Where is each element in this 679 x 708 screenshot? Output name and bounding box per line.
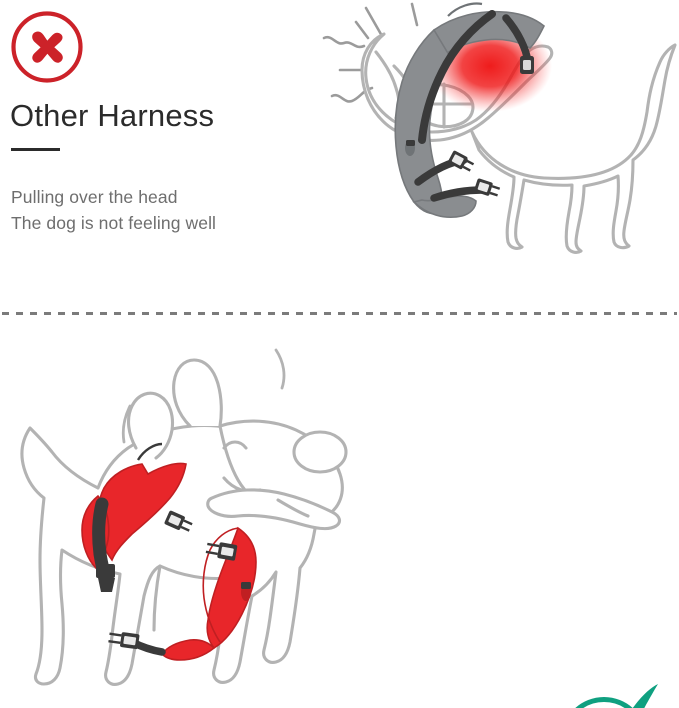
our-harness-panel: Our Harness No more pulling over the hea… xyxy=(0,314,679,708)
cross-circle-icon xyxy=(8,8,86,86)
description-other-line-2: The dog is not feeling well xyxy=(11,210,341,236)
dog-red-harness-illustration xyxy=(2,330,402,708)
title-underline-other xyxy=(11,148,60,151)
page-title-other: Other Harness xyxy=(10,98,214,134)
dog-body-outline xyxy=(22,360,346,684)
check-circle-icon xyxy=(556,682,661,708)
description-other: Pulling over the head The dog is not fee… xyxy=(11,184,341,236)
other-harness-panel: Other Harness Pulling over the head The … xyxy=(0,0,679,313)
comparison-infographic: Other Harness Pulling over the head The … xyxy=(0,0,679,708)
description-other-line-1: Pulling over the head xyxy=(11,184,341,210)
dog-gray-harness-illustration xyxy=(322,0,679,290)
